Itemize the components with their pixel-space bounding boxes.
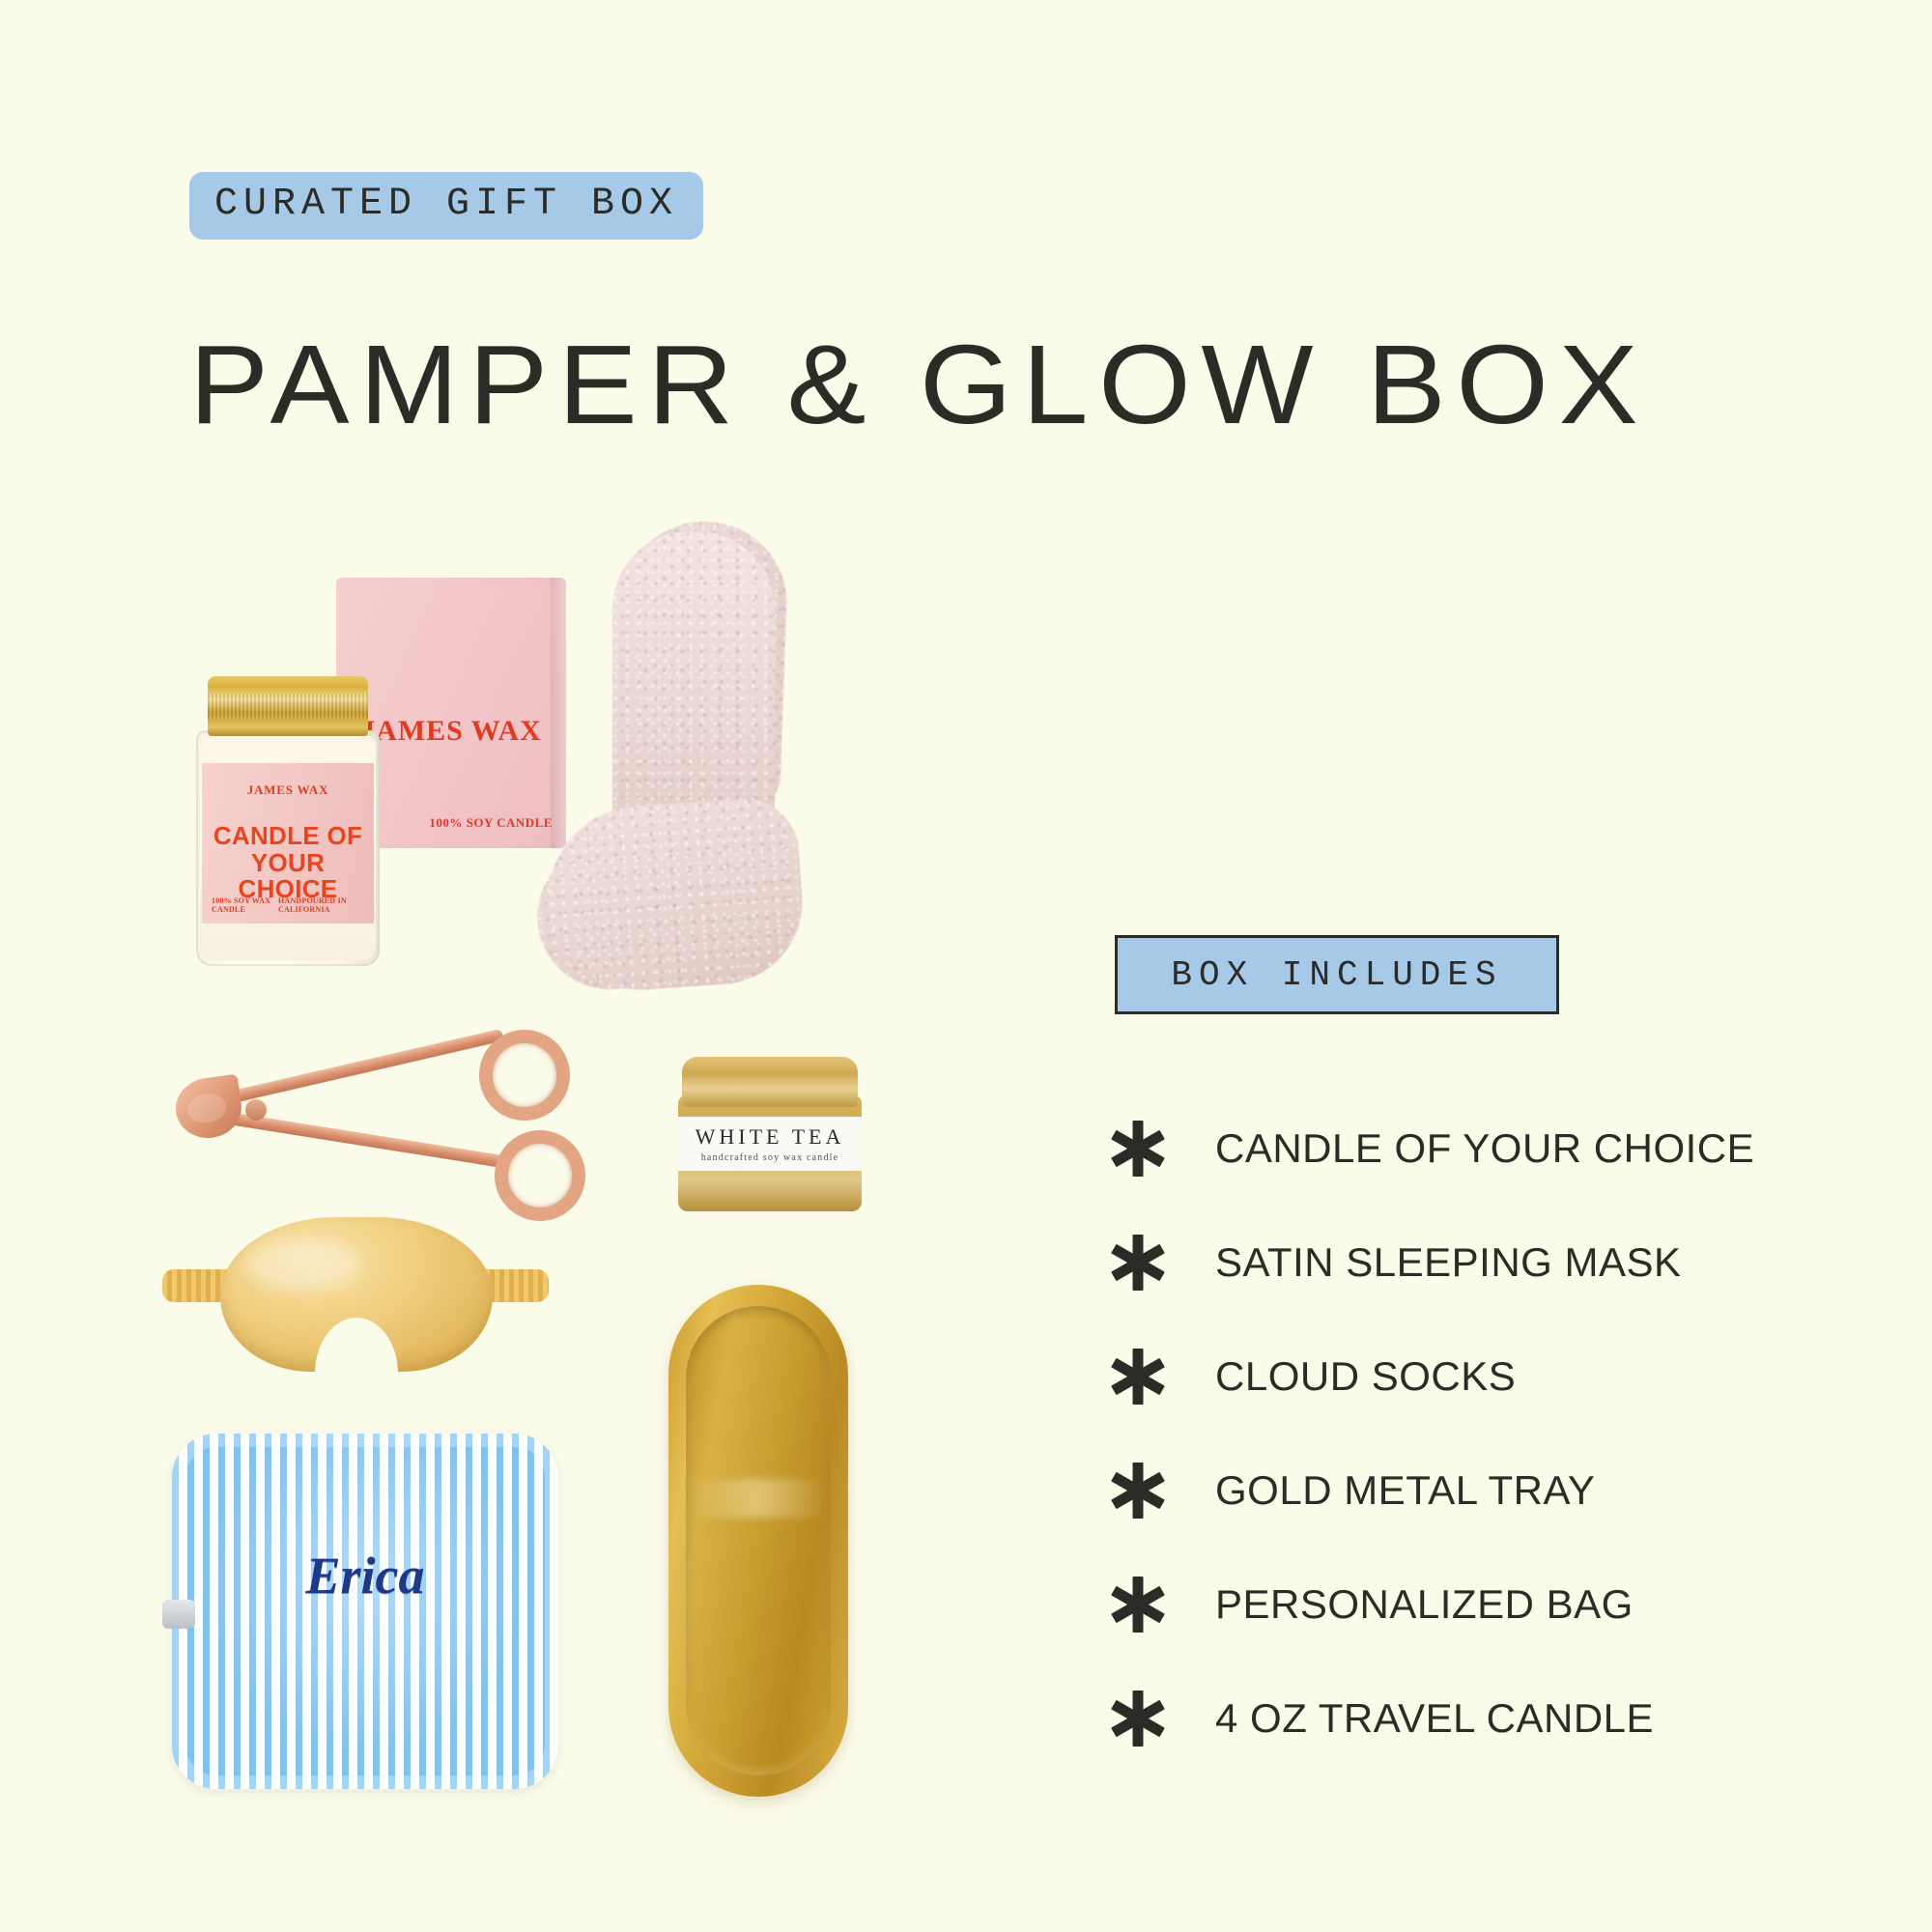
trimmer-arm-lower <box>221 1111 509 1169</box>
eyebrow-badge: CURATED GIFT BOX <box>189 172 703 240</box>
jar-main-line-2: YOUR CHOICE <box>202 850 374 903</box>
asterisk-icon <box>1111 1690 1165 1747</box>
list-item: SATIN SLEEPING MASK <box>1111 1206 1845 1320</box>
tray-inner-basin <box>686 1306 831 1776</box>
list-item-label: CANDLE OF YOUR CHOICE <box>1215 1125 1754 1172</box>
list-item-label: GOLD METAL TRAY <box>1215 1467 1595 1514</box>
satin-sleep-mask <box>162 1209 549 1393</box>
list-item: CANDLE OF YOUR CHOICE <box>1111 1092 1845 1206</box>
mask-body <box>220 1217 493 1372</box>
jar-footnotes: 100% SOY WAX CANDLE HANDPOURED IN CALIFO… <box>202 896 374 914</box>
page-title: PAMPER & GLOW BOX <box>189 328 1648 440</box>
asterisk-icon <box>1111 1462 1165 1520</box>
pouch-embroidered-name: Erica <box>162 1546 568 1605</box>
jar-main-text: CANDLE OF YOUR CHOICE <box>202 823 374 903</box>
jar-gold-lid <box>208 676 368 736</box>
wick-trimmer <box>155 1022 560 1196</box>
mask-highlight <box>245 1238 361 1291</box>
personalized-bag: Erica <box>162 1428 568 1795</box>
asterisk-icon <box>1111 1234 1165 1292</box>
cloud-socks <box>537 522 856 1063</box>
tin-scent-name: WHITE TEA <box>696 1124 845 1150</box>
list-item-label: CLOUD SOCKS <box>1215 1353 1516 1400</box>
list-item: PERSONALIZED BAG <box>1111 1548 1845 1662</box>
asterisk-icon <box>1111 1348 1165 1406</box>
travel-candle-tin: WHITE TEA handcrafted soy wax candle <box>678 1057 862 1211</box>
list-item-label: SATIN SLEEPING MASK <box>1215 1239 1682 1286</box>
trimmer-arm-upper <box>219 1029 504 1106</box>
candle-jar: JAMES WAX CANDLE OF YOUR CHOICE 100% SOY… <box>196 676 380 966</box>
tray-sheen <box>688 1479 829 1518</box>
jar-glass: JAMES WAX CANDLE OF YOUR CHOICE 100% SOY… <box>196 730 380 966</box>
list-item: 4 OZ TRAVEL CANDLE <box>1111 1662 1845 1776</box>
box-includes-list: CANDLE OF YOUR CHOICE SATIN SLEEPING MAS… <box>1111 1092 1845 1776</box>
candle-box-footnote: 100% SOY CANDLE <box>429 815 553 831</box>
mask-nose-notch <box>315 1318 398 1374</box>
list-item: CLOUD SOCKS <box>1111 1320 1845 1434</box>
list-item-label: 4 OZ TRAVEL CANDLE <box>1215 1695 1654 1742</box>
jar-foot-left: 100% SOY WAX CANDLE <box>212 896 278 914</box>
jar-label: JAMES WAX CANDLE OF YOUR CHOICE 100% SOY… <box>202 763 374 923</box>
sock-front-foot <box>543 795 809 996</box>
gold-metal-tray <box>668 1285 848 1797</box>
asterisk-icon <box>1111 1120 1165 1178</box>
jar-main-line-1: CANDLE OF <box>202 823 374 850</box>
box-includes-badge: BOX INCLUDES <box>1115 935 1559 1014</box>
jar-foot-right: HANDPOURED IN CALIFORNIA <box>278 896 364 914</box>
tin-label: WHITE TEA handcrafted soy wax candle <box>678 1117 862 1171</box>
trimmer-pivot-screw <box>245 1099 267 1121</box>
poster-canvas: CURATED GIFT BOX PAMPER & GLOW BOX JAMES… <box>0 0 1932 1932</box>
tin-gold-lid <box>682 1057 858 1107</box>
list-item-label: PERSONALIZED BAG <box>1215 1581 1634 1628</box>
pouch-body <box>172 1434 558 1789</box>
trimmer-blade-head <box>172 1074 245 1143</box>
tin-tagline: handcrafted soy wax candle <box>701 1152 839 1163</box>
list-item: GOLD METAL TRAY <box>1111 1434 1845 1548</box>
asterisk-icon <box>1111 1576 1165 1634</box>
jar-brand: JAMES WAX <box>247 782 329 798</box>
